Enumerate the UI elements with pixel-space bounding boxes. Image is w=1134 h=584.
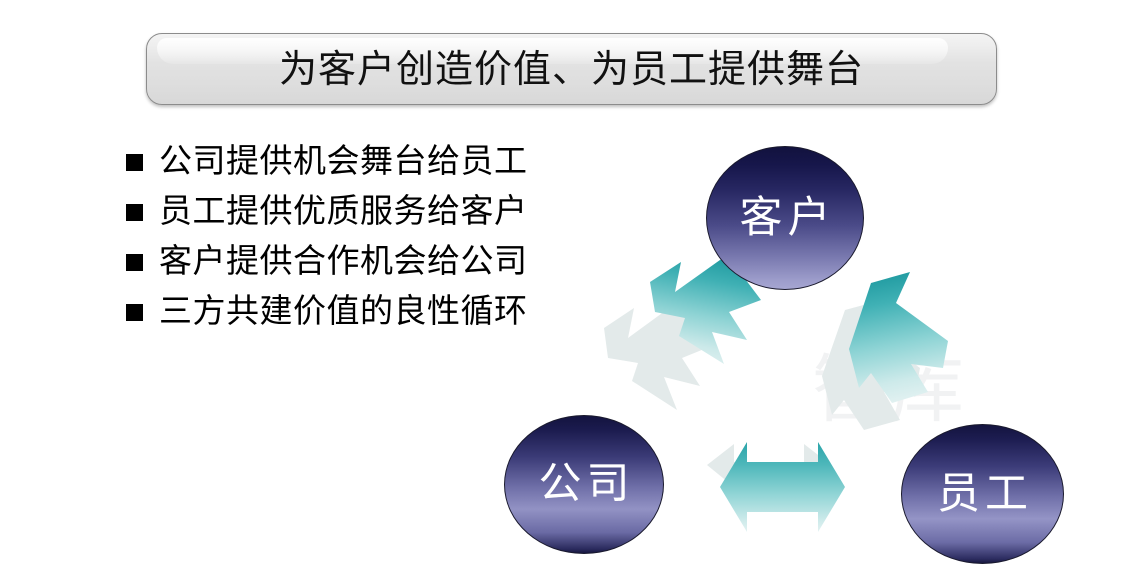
- node-company-label: 公司: [534, 463, 635, 506]
- arrow-customer-to-staff: [822, 272, 948, 430]
- node-customer-label: 客户: [735, 197, 836, 240]
- node-staff-label: 员工: [932, 473, 1033, 516]
- node-company[interactable]: 公司: [504, 415, 664, 554]
- node-customer[interactable]: 客户: [706, 146, 864, 290]
- arrow-body: [720, 442, 845, 532]
- slide-canvas: 为客户创造价值、为员工提供舞台 公司提供机会舞台给员工 员工提供优质服务给客户 …: [0, 0, 1134, 584]
- arrow-company-to-staff: [707, 442, 845, 532]
- arrow-company-to-customer: [604, 255, 761, 410]
- node-staff[interactable]: 员工: [901, 424, 1064, 564]
